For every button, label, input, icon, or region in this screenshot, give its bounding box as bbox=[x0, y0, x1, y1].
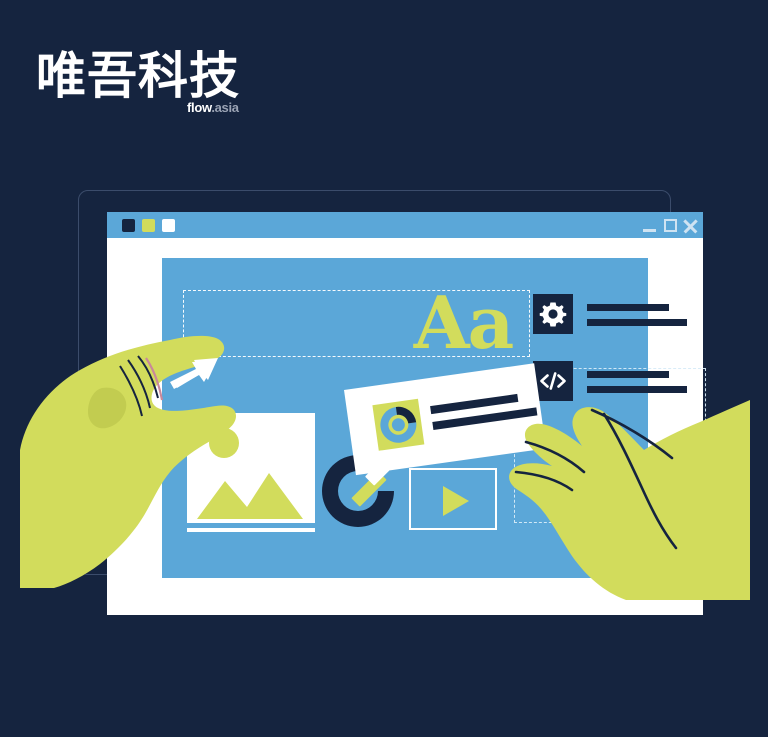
sun-circle-icon bbox=[209, 428, 239, 458]
window-titlebar bbox=[107, 212, 703, 238]
code-line-2 bbox=[587, 386, 687, 393]
donut-chart-icon[interactable] bbox=[372, 399, 424, 451]
mountain-shape-icon bbox=[187, 457, 315, 523]
traffic-light-lime[interactable] bbox=[142, 219, 155, 232]
settings-line-2 bbox=[587, 319, 687, 326]
close-icon[interactable] bbox=[683, 219, 697, 233]
image-placeholder[interactable] bbox=[187, 413, 315, 523]
illustration-canvas: 唯吾科技 flow.asia Aa bbox=[0, 0, 768, 737]
brand-tagline-light: .asia bbox=[211, 100, 238, 115]
settings-line-1 bbox=[587, 304, 669, 311]
code-icon[interactable] bbox=[533, 361, 573, 401]
video-player-frame[interactable] bbox=[409, 468, 497, 530]
resize-arrow-icon bbox=[168, 352, 230, 392]
typography-sample[interactable]: Aa bbox=[398, 286, 528, 360]
brand-logo-name: 唯吾科技 bbox=[36, 48, 240, 104]
traffic-light-white[interactable] bbox=[162, 219, 175, 232]
image-placeholder-underline bbox=[187, 528, 315, 532]
minimize-icon[interactable] bbox=[643, 229, 656, 232]
brand-logo: 唯吾科技 flow.asia bbox=[36, 48, 266, 126]
brand-logo-tagline: flow.asia bbox=[187, 100, 239, 115]
code-line-1 bbox=[587, 371, 669, 378]
maximize-icon[interactable] bbox=[664, 219, 677, 232]
video-play-button[interactable] bbox=[443, 486, 469, 516]
brand-tagline-bold: flow bbox=[187, 100, 211, 115]
gear-icon[interactable] bbox=[533, 294, 573, 334]
traffic-light-dark[interactable] bbox=[122, 219, 135, 232]
